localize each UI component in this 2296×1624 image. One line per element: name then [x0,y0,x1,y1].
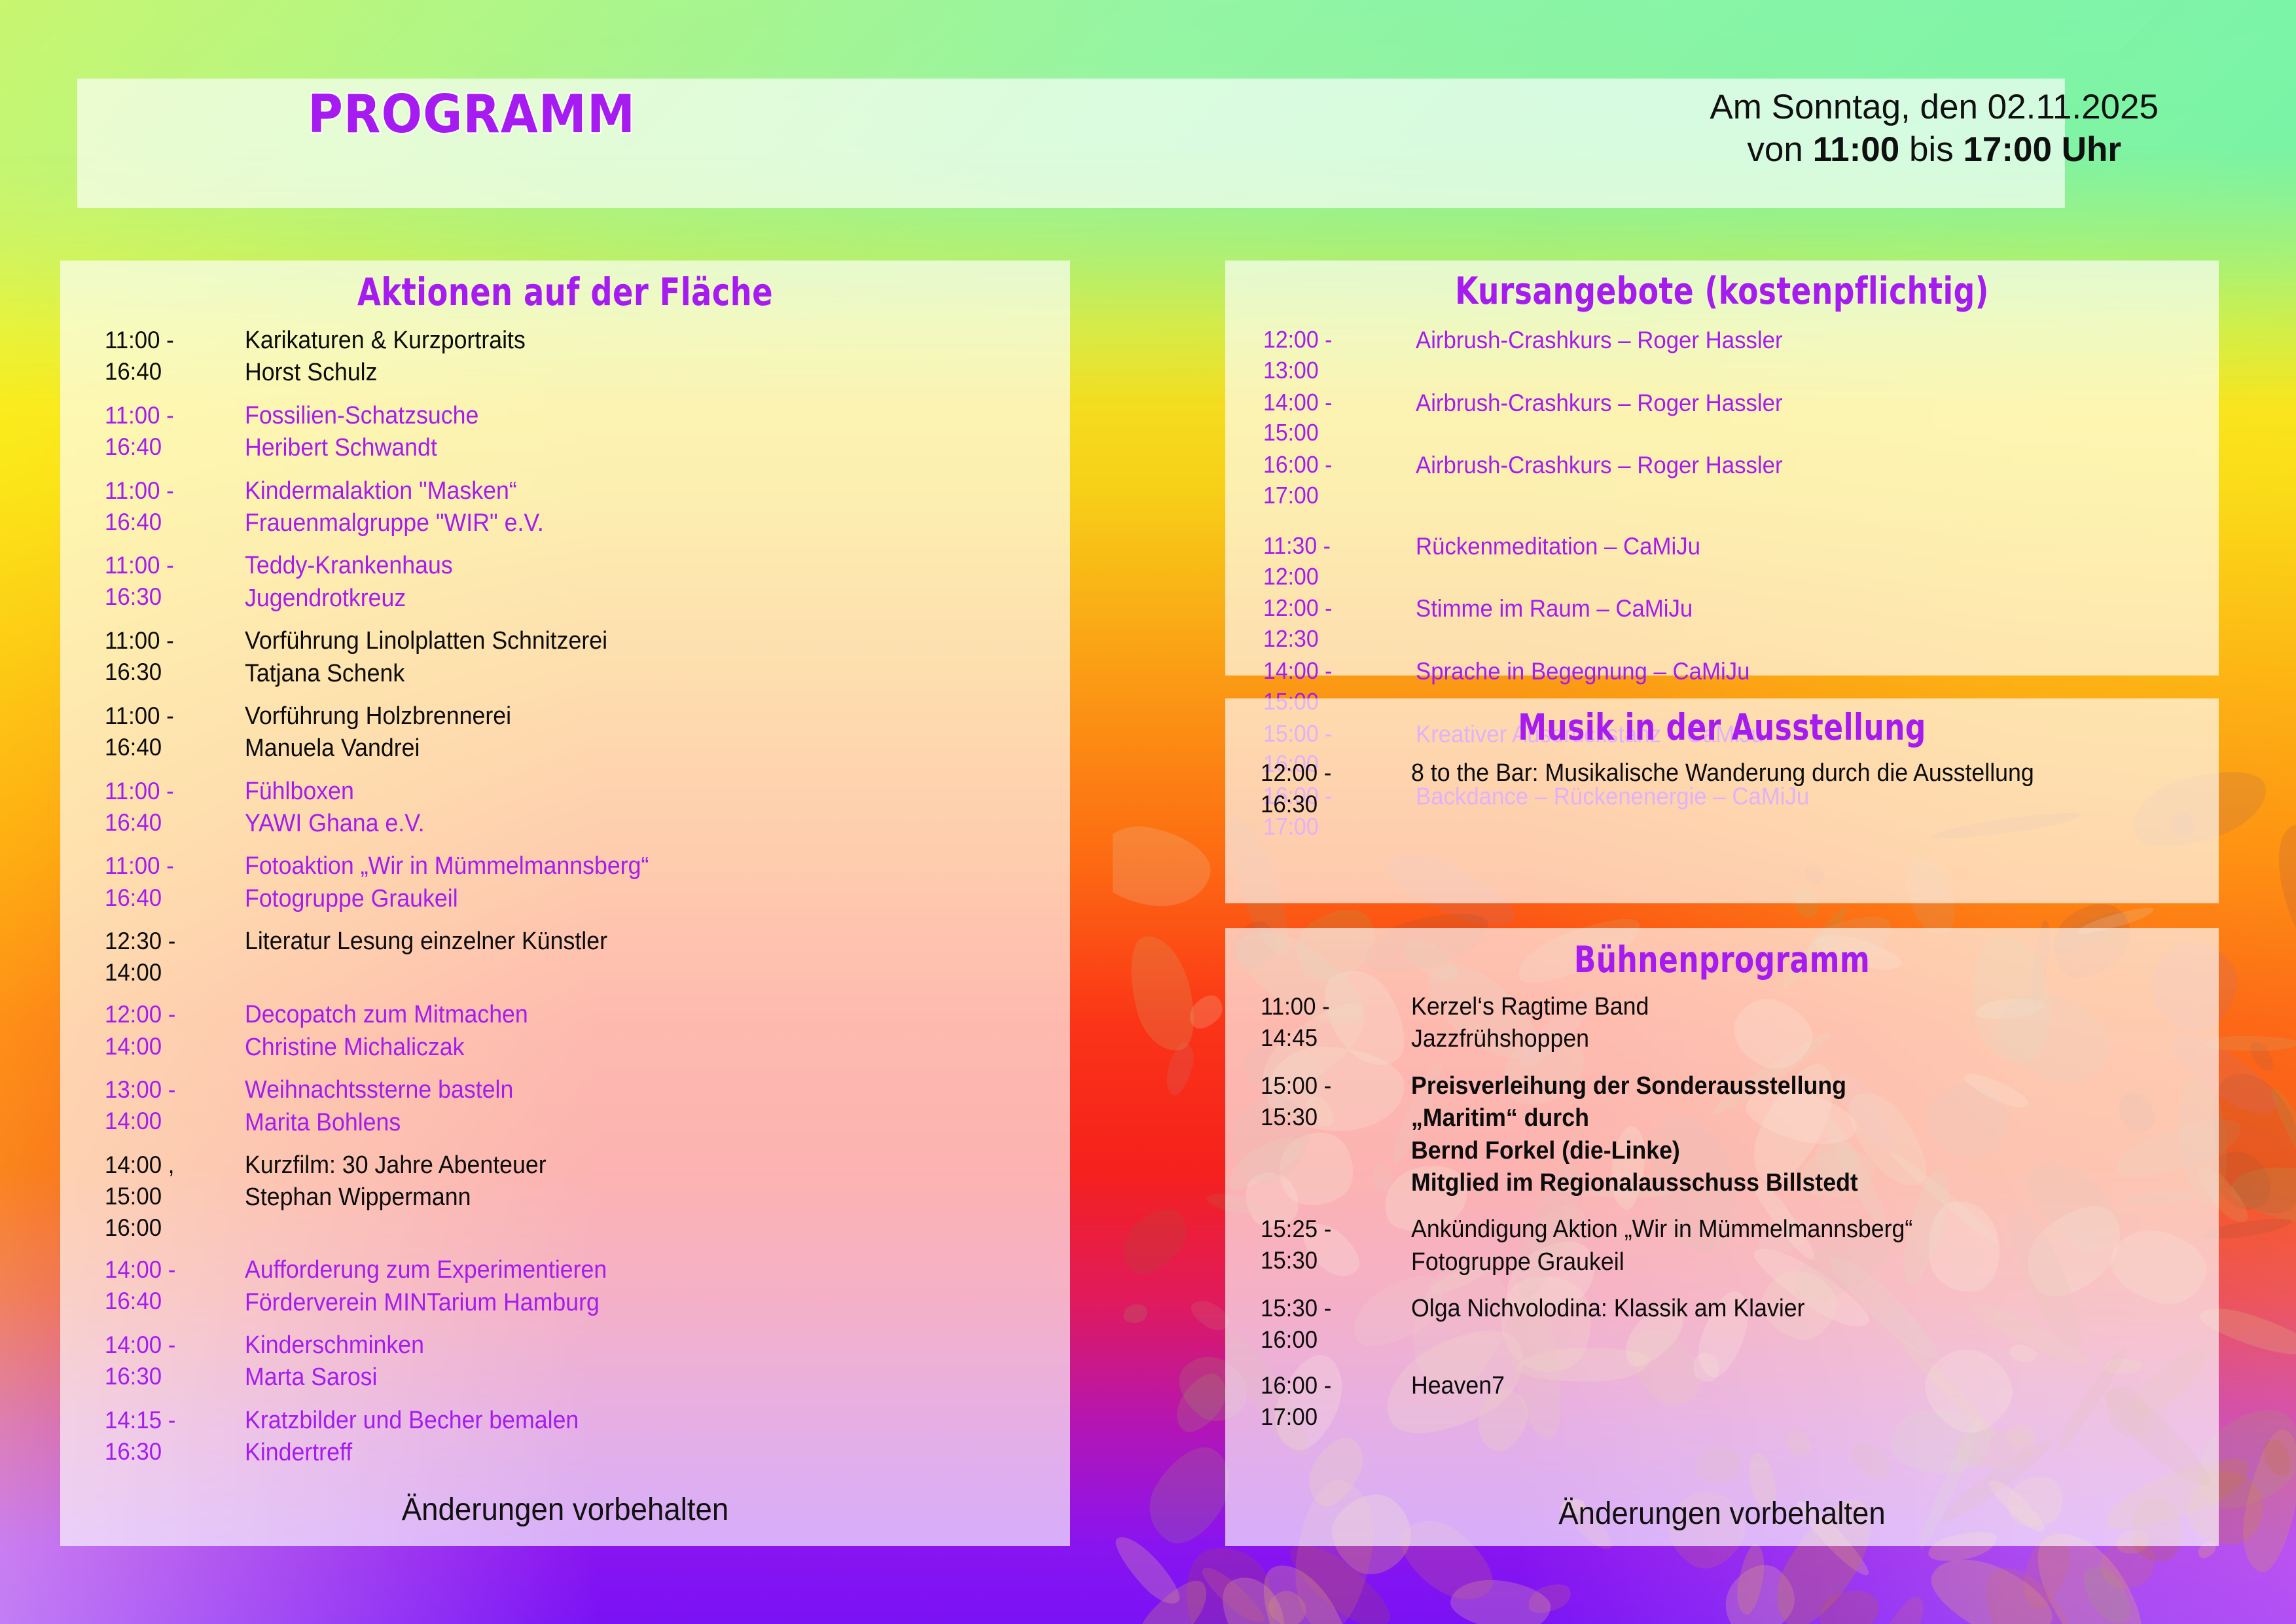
programme-row: 14:00 - 16:40Aufforderung zum Experiment… [105,1254,1070,1319]
splatter-blob [1113,1197,1198,1285]
event-date-time: Am Sonntag, den 02.11.2025 von 11:00 bis… [1710,86,2159,171]
row-time: 11:00 - 16:40 [105,475,228,538]
row-time: 12:00 - 14:00 [105,999,228,1062]
row-description: Fotoaktion „Wir in Mümmelmannsberg“ Foto… [245,850,649,915]
splatter-blob [1448,1575,1553,1624]
programme-row: 11:00 - 16:40Fossilien-Schatzsuche Herib… [105,400,1070,465]
row-time: 14:00 - 16:40 [105,1254,228,1317]
row-description: Airbrush-Crashkurs – Roger Hassler [1416,450,1783,481]
programme-row: 12:00 - 14:00Decopatch zum Mitmachen Chr… [105,999,1070,1064]
programme-row: 13:00 - 14:00Weihnachtssterne basteln Ma… [105,1074,1070,1139]
splatter-blob [1174,1536,1289,1624]
splatter-blob [1967,1552,2100,1624]
splatter-blob [1121,1302,1149,1326]
row-description: Aufforderung zum Experimentieren Förderv… [245,1254,607,1319]
splatter-blob [1263,1585,1312,1624]
programme-row: 12:00 - 12:30Stimme im Raum – CaMiJu [1263,593,2219,655]
row-time: 14:00 , 15:00 16:00 [105,1149,228,1244]
programme-row: 11:00 - 16:40Vorführung Holzbrennerei Ma… [105,700,1070,765]
row-description: Heaven7 [1411,1370,1505,1402]
programme-row: 11:00 - 16:30Teddy-Krankenhaus Jugendrot… [105,550,1070,615]
row-time: 11:00 - 16:40 [105,700,228,763]
aktionen-footnote: Änderungen vorbehalten [86,1492,1045,1528]
programme-row: 11:00 - 16:40Karikaturen & Kurzportraits… [105,325,1070,389]
buehnenprogramm-row-list: 11:00 - 14:45Kerzel‘s Ragtime Band Jazzf… [1261,991,2219,1434]
row-time: 12:30 - 14:00 [105,926,228,988]
row-gap [1263,513,2219,531]
row-description: Vorführung Linolplatten Schnitzerei Tatj… [245,625,607,690]
splatter-blob [1210,1566,1297,1624]
splatter-blob [2227,1159,2296,1231]
splatter-blob [1183,989,1229,1034]
row-time: 11:00 - 16:40 [105,400,228,463]
event-time-prefix: von [1747,130,1812,169]
programme-row: 11:00 - 14:45Kerzel‘s Ragtime Band Jazzf… [1261,991,2219,1056]
row-description: Fossilien-Schatzsuche Heribert Schwandt [245,400,478,465]
row-description: Vorführung Holzbrennerei Manuela Vandrei [245,700,511,765]
row-time: 15:30 - 16:00 [1261,1293,1390,1356]
splatter-blob [2206,1036,2296,1051]
kursangebote-panel: Kursangebote (kostenpflichtig) 12:00 - 1… [1225,261,2219,676]
row-time: 11:00 - 16:40 [105,850,228,913]
row-description: Airbrush-Crashkurs – Roger Hassler [1416,388,1783,419]
splatter-blob [2266,1084,2296,1188]
splatter-blob [1814,1583,1884,1624]
row-time: 14:15 - 16:30 [105,1405,228,1468]
row-description: Teddy-Krankenhaus Jugendrotkreuz [245,550,453,615]
row-description: Literatur Lesung einzelner Künstler [245,926,607,958]
aktionen-row-list: 11:00 - 16:40Karikaturen & Kurzportraits… [105,325,1070,1470]
row-time: 15:25 - 15:30 [1261,1214,1390,1276]
programme-row: 12:00 - 16:308 to the Bar: Musikalische … [1261,757,2219,820]
programme-row: 14:00 , 15:00 16:00Kurzfilm: 30 Jahre Ab… [105,1149,1070,1244]
splatter-blob [1113,1528,1187,1612]
splatter-blob [2246,1038,2278,1074]
programme-row: 15:25 - 15:30Ankündigung Aktion „Wir in … [1261,1214,2219,1278]
row-time: 11:00 - 14:45 [1261,991,1390,1054]
row-time: 11:00 - 16:30 [105,550,228,613]
row-time: 12:00 - 12:30 [1263,593,1390,655]
programme-row: 14:15 - 16:30Kratzbilder und Becher bema… [105,1405,1070,1470]
row-time: 11:00 - 16:30 [105,625,228,688]
splatter-blob [1524,1578,1575,1618]
event-time-mid: bis [1899,130,1963,169]
splatter-blob [1119,929,1205,1058]
splatter-blob [2234,1426,2296,1577]
aktionen-panel: Aktionen auf der Fläche 11:00 - 16:40Kar… [60,261,1070,1546]
musik-heading: Musik in der Ausstellung [1325,706,2119,748]
splatter-blob [1126,1570,1218,1624]
row-description: Stimme im Raum – CaMiJu [1416,593,1693,624]
programme-row: 14:00 - 16:30Kinderschminken Marta Saros… [105,1329,1070,1394]
buehnenprogramm-heading: Bühnenprogramm [1325,939,2119,981]
splatter-blob [1733,1542,1768,1616]
programme-row: 12:00 - 13:00Airbrush-Crashkurs – Roger … [1263,325,2219,386]
programme-row: 11:30 - 12:00Rückenmeditation – CaMiJu [1263,531,2219,592]
row-description: Ankündigung Aktion „Wir in Mümmelmannsbe… [1411,1214,1912,1278]
programme-row: 11:00 - 16:40Kindermalaktion "Masken“ Fr… [105,475,1070,540]
kursangebote-heading: Kursangebote (kostenpflichtig) [1325,270,2119,313]
row-description: Airbrush-Crashkurs – Roger Hassler [1416,325,1783,356]
row-time: 12:00 - 13:00 [1263,325,1390,386]
event-time-end: 17:00 Uhr [1963,130,2121,169]
row-description: Karikaturen & Kurzportraits Horst Schulz [245,325,526,389]
programme-row: 16:00 - 17:00Airbrush-Crashkurs – Roger … [1263,450,2219,511]
row-time: 12:00 - 16:30 [1261,757,1390,820]
row-description: Kurzfilm: 30 Jahre Abenteuer Stephan Wip… [245,1149,547,1214]
row-description: Kratzbilder und Becher bemalen Kindertre… [245,1405,579,1470]
splatter-blob [1246,1551,1371,1624]
row-description: Decopatch zum Mitmachen Christine Michal… [245,999,528,1064]
programme-row: 16:00 - 17:00Heaven7 [1261,1370,2219,1433]
row-time: 14:00 - 16:30 [105,1329,228,1392]
programme-row: 14:00 - 15:00Airbrush-Crashkurs – Roger … [1263,388,2219,449]
row-description: Kerzel‘s Ragtime Band Jazzfrühshoppen [1411,991,1649,1056]
event-date-line: Am Sonntag, den 02.11.2025 [1710,86,2159,129]
row-time: 15:00 - 15:30 [1261,1070,1390,1133]
row-description: Fühlboxen YAWI Ghana e.V. [245,776,425,840]
row-description: Rückenmeditation – CaMiJu [1416,531,1700,562]
aktionen-heading: Aktionen auf der Fläche [161,270,969,314]
musik-panel: Musik in der Ausstellung 12:00 - 16:308 … [1225,698,2219,903]
row-time: 16:00 - 17:00 [1261,1370,1390,1433]
row-description: Kindermalaktion "Masken“ Frauenmalgruppe… [245,475,544,540]
splatter-blob [1162,1040,1198,1098]
row-time: 16:00 - 17:00 [1263,450,1390,511]
buehnenprogramm-panel: Bühnenprogramm 11:00 - 14:45Kerzel‘s Rag… [1225,928,2219,1546]
programme-row: 15:30 - 16:00Olga Nichvolodina: Klassik … [1261,1293,2219,1356]
page-title: PROGRAMM [308,84,636,145]
programme-row: 15:00 - 15:30Preisverleihung der Sondera… [1261,1070,2219,1200]
row-description: Olga Nichvolodina: Klassik am Klavier [1411,1293,1805,1325]
row-time: 11:00 - 16:40 [105,325,228,388]
row-description: 8 to the Bar: Musikalische Wanderung dur… [1411,757,2034,789]
splatter-blob [2261,810,2296,970]
row-time: 11:30 - 12:00 [1263,531,1390,592]
splatter-blob [1113,819,1216,914]
programme-row: 12:30 - 14:00Literatur Lesung einzelner … [105,926,1070,988]
splatter-blob [1868,1591,1932,1624]
event-time-line: von 11:00 bis 17:00 Uhr [1710,129,2159,171]
event-time-start: 11:00 [1813,130,1900,169]
row-description: Sprache in Begegnung – CaMiJu [1416,656,1749,687]
row-description: Weihnachtssterne basteln Marita Bohlens [245,1074,513,1139]
programme-row: 11:00 - 16:40Fotoaktion „Wir in Mümmelma… [105,850,1070,915]
musik-row-list: 12:00 - 16:308 to the Bar: Musikalische … [1261,757,2219,820]
programme-row: 11:00 - 16:30Vorführung Linolplatten Sch… [105,625,1070,690]
row-time: 13:00 - 14:00 [105,1074,228,1137]
splatter-blob [1920,1542,2062,1624]
row-time: 11:00 - 16:40 [105,776,228,839]
splatter-blob [2075,1559,2140,1624]
splatter-blob [1712,1553,1807,1624]
splatter-blob [2259,1435,2295,1480]
buehnenprogramm-footnote: Änderungen vorbehalten [1250,1496,2194,1532]
programme-row: 11:00 - 16:40Fühlboxen YAWI Ghana e.V. [105,776,1070,840]
splatter-blob [1196,1562,1270,1624]
row-description: Preisverleihung der Sonderausstellung „M… [1411,1070,1858,1200]
row-description: Kinderschminken Marta Sarosi [245,1329,424,1394]
row-time: 14:00 - 15:00 [1263,388,1390,449]
